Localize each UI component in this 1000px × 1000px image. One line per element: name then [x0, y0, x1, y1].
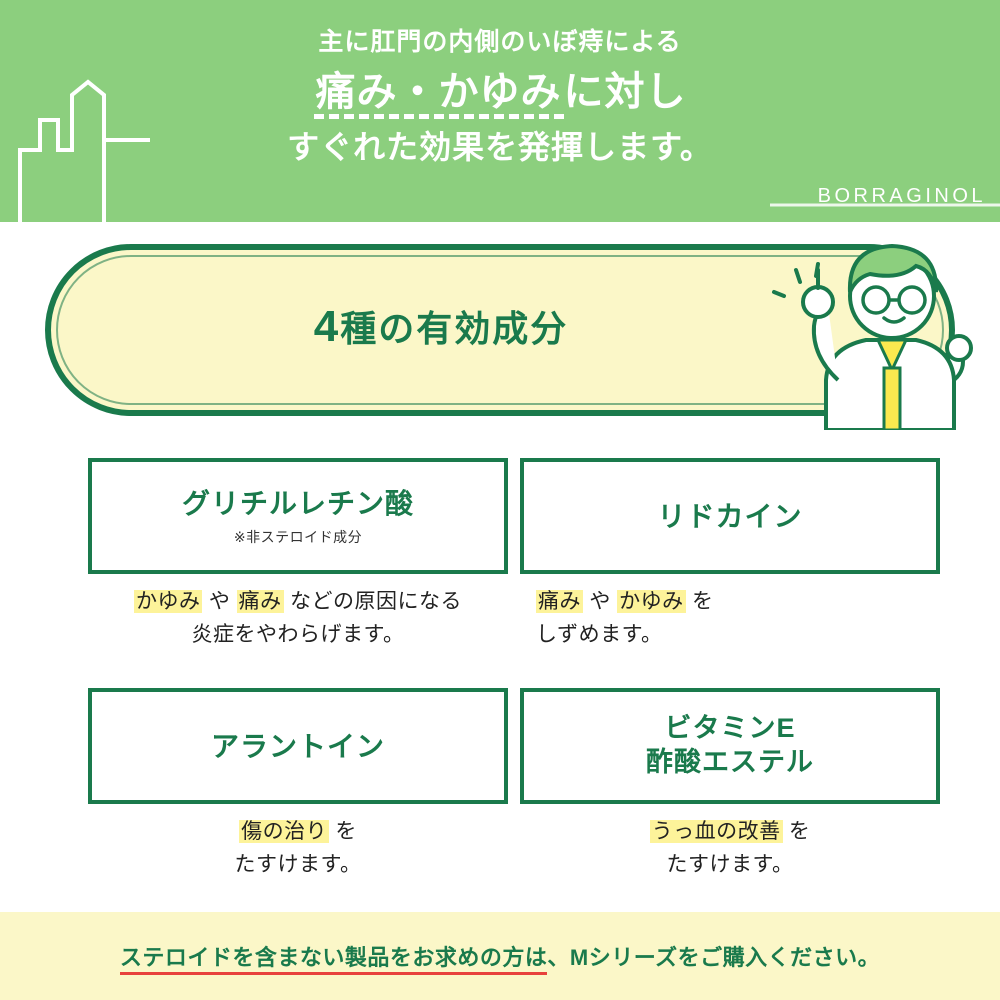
ingredient-card-grid: グリチルレチン酸 ※非ステロイド成分 かゆみ や 痛み などの原因になる 炎症を…: [0, 440, 1000, 912]
ingredient-card: リドカイン: [520, 458, 940, 574]
footer-underlined-text: ステロイドを含まない製品をお求めの方は: [120, 945, 548, 975]
ingredient-description: うっ血の改善 を たすけます。: [520, 816, 940, 881]
header-line-2-emphasis: 痛み・かゆみ: [314, 70, 564, 119]
ingredient-cell-3: アラントイン 傷の治り を たすけます。: [88, 688, 508, 881]
footer-rest-text: 、Mシリーズをご購入ください。: [547, 945, 880, 970]
pill-title: 4種の有効成分: [51, 300, 831, 352]
footer-note: ステロイドを含まない製品をお求めの方は、Mシリーズをご購入ください。: [0, 912, 1000, 1000]
ingredient-cell-4: ビタミンE 酢酸エステル うっ血の改善 を たすけます。: [520, 688, 940, 881]
highlight-term: うっ血の改善: [650, 820, 783, 843]
ingredient-description-line-2: たすけます。: [88, 849, 508, 882]
ingredient-card: アラントイン: [88, 688, 508, 804]
brand-logo: BORRAGINOL: [818, 185, 986, 208]
ingredient-card: グリチルレチン酸 ※非ステロイド成分: [88, 458, 508, 574]
ingredient-description: 傷の治り を たすけます。: [88, 816, 508, 881]
desc-connector: や: [583, 590, 617, 613]
ingredient-cell-1: グリチルレチン酸 ※非ステロイド成分 かゆみ や 痛み などの原因になる 炎症を…: [88, 458, 508, 651]
desc-connector: や: [202, 590, 236, 613]
highlight-term: 痛み: [536, 590, 583, 613]
ingredient-description-line-1: 痛み や かゆみ を: [536, 586, 940, 619]
ingredient-description-line-2: たすけます。: [520, 849, 940, 882]
ingredient-card: ビタミンE 酢酸エステル: [520, 688, 940, 804]
header-text-block: 主に肛門の内側のいぼ痔による 痛み・かゆみに対し すぐれた効果を発揮します。: [0, 0, 1000, 169]
footer-text: ステロイドを含まない製品をお求めの方は、Mシリーズをご購入ください。: [120, 940, 880, 972]
highlight-term: 傷の治り: [239, 820, 329, 843]
desc-tail: を: [329, 820, 357, 843]
header-line-3: すぐれた効果を発揮します。: [0, 125, 1000, 170]
ingredient-name: リドカイン: [657, 499, 802, 534]
ingredient-description: 痛み や かゆみ を しずめます。: [520, 586, 940, 651]
highlight-term: 痛み: [237, 590, 284, 613]
ingredient-name: グリチルレチン酸: [182, 486, 414, 521]
ingredient-name: ビタミンE 酢酸エステル: [646, 712, 814, 780]
ingredient-description-line-2: 炎症をやわらげます。: [88, 619, 508, 652]
highlight-term: かゆみ: [617, 590, 686, 613]
pharmacist-character-illustration: [766, 230, 976, 430]
header-banner: 主に肛門の内側のいぼ痔による 痛み・かゆみに対し すぐれた効果を発揮します。 B…: [0, 0, 1000, 222]
ingredient-description: かゆみ や 痛み などの原因になる 炎症をやわらげます。: [88, 586, 508, 651]
ingredient-name: アラントイン: [211, 729, 385, 764]
product-infographic: 主に肛門の内側のいぼ痔による 痛み・かゆみに対し すぐれた効果を発揮します。 B…: [0, 0, 1000, 1000]
pill-title-rest: 種の有効成分: [340, 308, 568, 349]
ingredient-note: ※非ステロイド成分: [234, 527, 362, 547]
header-line-1: 主に肛門の内側のいぼ痔による: [0, 26, 1000, 59]
highlight-term: かゆみ: [134, 590, 203, 613]
ingredient-description-line-1: 傷の治り を: [88, 816, 508, 849]
header-line-2: 痛み・かゆみに対し: [0, 63, 1000, 121]
desc-tail: を: [686, 590, 714, 613]
ingredient-description-line-2: しずめます。: [536, 619, 940, 652]
active-ingredients-banner: 4種の有効成分: [0, 222, 1000, 438]
ingredient-description-line-1: うっ血の改善 を: [520, 816, 940, 849]
ingredient-cell-2: リドカイン 痛み や かゆみ を しずめます。: [520, 458, 940, 651]
desc-tail: などの原因になる: [284, 590, 462, 613]
desc-tail: を: [783, 820, 811, 843]
ingredient-count: 4: [314, 302, 340, 351]
ingredient-description-line-1: かゆみ や 痛み などの原因になる: [88, 586, 508, 619]
header-line-2-rest: に対し: [564, 70, 687, 114]
